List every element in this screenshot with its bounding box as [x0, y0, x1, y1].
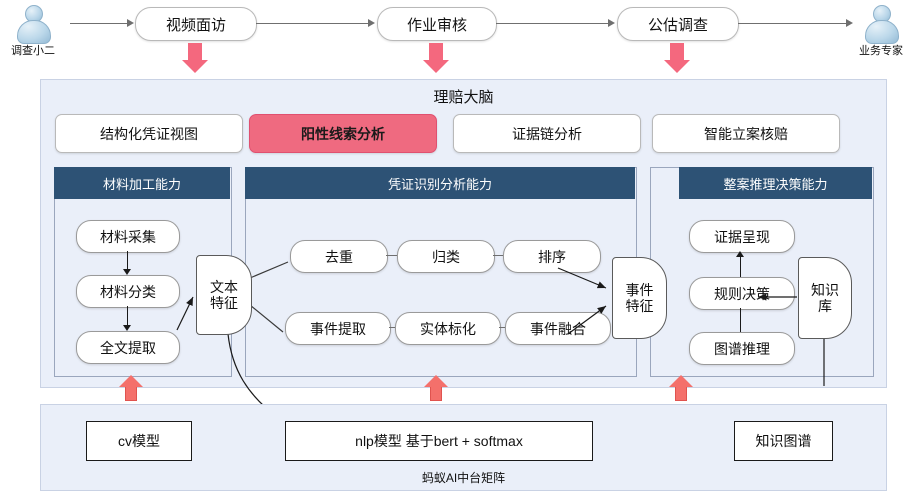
diagram-canvas: 调查小二 业务专家 视频面访 作业审核 公估调查 理赔大脑 结构化凭证视图 阳性…: [0, 0, 915, 495]
matrix-item-cv-model[interactable]: cv模型: [86, 421, 192, 461]
node-event-fusion[interactable]: 事件融合: [505, 312, 611, 345]
person-icon: [13, 4, 53, 44]
column-header-voucher-recognition: 凭证识别分析能力: [245, 167, 635, 199]
ai-platform-matrix-panel: cv模型 nlp模型 基于bert + softmax 知识图谱 蚂蚁AI中台矩…: [40, 404, 887, 491]
node-sort[interactable]: 排序: [503, 240, 601, 273]
matrix-item-knowledge-graph[interactable]: 知识图谱: [734, 421, 833, 461]
down-arrow-2-icon: [423, 43, 449, 73]
up-arrow-nlp-icon: [424, 375, 448, 401]
node-entity-normalization[interactable]: 实体标化: [395, 312, 501, 345]
matrix-caption: 蚂蚁AI中台矩阵: [41, 469, 886, 486]
flow-connector-1: [70, 23, 128, 24]
edge-normalization-fusion: [499, 327, 505, 328]
store-text-feature-line1: 文本: [210, 279, 238, 295]
node-material-classification[interactable]: 材料分类: [76, 275, 180, 308]
tab-evidence-chain-analysis[interactable]: 证据链分析: [453, 114, 641, 153]
down-arrow-3-icon: [664, 43, 690, 73]
flow-connector-3: [496, 23, 608, 24]
store-knowledge-base[interactable]: 知识 库: [798, 257, 852, 339]
page-title: 理赔大脑: [41, 86, 886, 107]
flow-arrowhead-4: [846, 19, 853, 27]
matrix-item-nlp-model[interactable]: nlp模型 基于bert + softmax: [285, 421, 593, 461]
store-event-feature-line2: 特征: [626, 298, 654, 314]
flow-step-3[interactable]: 公估调查: [617, 7, 739, 41]
column-header-case-reasoning: 整案推理决策能力: [679, 167, 872, 199]
store-event-feature-line1: 事件: [626, 282, 654, 298]
edge-classification-to-extraction: [127, 306, 128, 325]
node-evidence-presentation[interactable]: 证据呈现: [689, 220, 795, 253]
node-event-extraction[interactable]: 事件提取: [285, 312, 391, 345]
edge-arrowhead-classification-to-extraction: [123, 325, 131, 331]
person-body-icon: [865, 20, 899, 44]
edge-extraction-normalization: [389, 327, 395, 328]
person-body-icon: [17, 20, 51, 44]
store-event-feature[interactable]: 事件 特征: [612, 257, 667, 339]
flow-arrowhead-2: [368, 19, 375, 27]
store-text-feature-line2: 特征: [210, 295, 238, 311]
actor-left-label: 调查小二: [0, 42, 66, 58]
edge-rule-to-evidence: [740, 257, 741, 277]
node-graph-reasoning[interactable]: 图谱推理: [689, 332, 795, 365]
node-rule-decision[interactable]: 规则决策: [689, 277, 795, 310]
store-knowledge-base-line2: 库: [811, 298, 839, 314]
flow-arrowhead-1: [127, 19, 134, 27]
actor-right: 业务专家: [848, 4, 914, 58]
claims-brain-panel: 理赔大脑 结构化凭证视图 阳性线索分析 证据链分析 智能立案核赔 材料加工能力 …: [40, 79, 887, 388]
node-categorize[interactable]: 归类: [397, 240, 495, 273]
flow-connector-4: [738, 23, 848, 24]
down-arrow-1-icon: [182, 43, 208, 73]
flow-step-1[interactable]: 视频面访: [135, 7, 257, 41]
tab-structured-voucher-view[interactable]: 结构化凭证视图: [55, 114, 243, 153]
flow-step-2[interactable]: 作业审核: [377, 7, 497, 41]
edge-collection-to-classification: [127, 251, 128, 269]
up-arrow-cv-icon: [119, 375, 143, 401]
node-fulltext-extraction[interactable]: 全文提取: [76, 331, 180, 364]
node-material-collection[interactable]: 材料采集: [76, 220, 180, 253]
edge-graph-to-rule: [740, 308, 741, 332]
person-icon: [861, 4, 901, 44]
tab-positive-clue-analysis[interactable]: 阳性线索分析: [249, 114, 437, 153]
flow-arrowhead-3: [608, 19, 615, 27]
actor-right-label: 业务专家: [848, 42, 914, 58]
column-header-material-processing: 材料加工能力: [54, 167, 230, 199]
actor-left: 调查小二: [0, 4, 66, 58]
node-dedup[interactable]: 去重: [290, 240, 388, 273]
flow-connector-2: [256, 23, 368, 24]
edge-arrowhead-collection-to-classification: [123, 269, 131, 275]
store-knowledge-base-line1: 知识: [811, 282, 839, 298]
edge-arrowhead-rule-to-evidence: [736, 251, 744, 257]
up-arrow-kg-icon: [669, 375, 693, 401]
tab-intelligent-case-filing[interactable]: 智能立案核赔: [652, 114, 840, 153]
edge-categorize-sort: [493, 255, 503, 256]
store-text-feature[interactable]: 文本 特征: [196, 255, 252, 335]
edge-dedup-categorize: [386, 255, 397, 256]
